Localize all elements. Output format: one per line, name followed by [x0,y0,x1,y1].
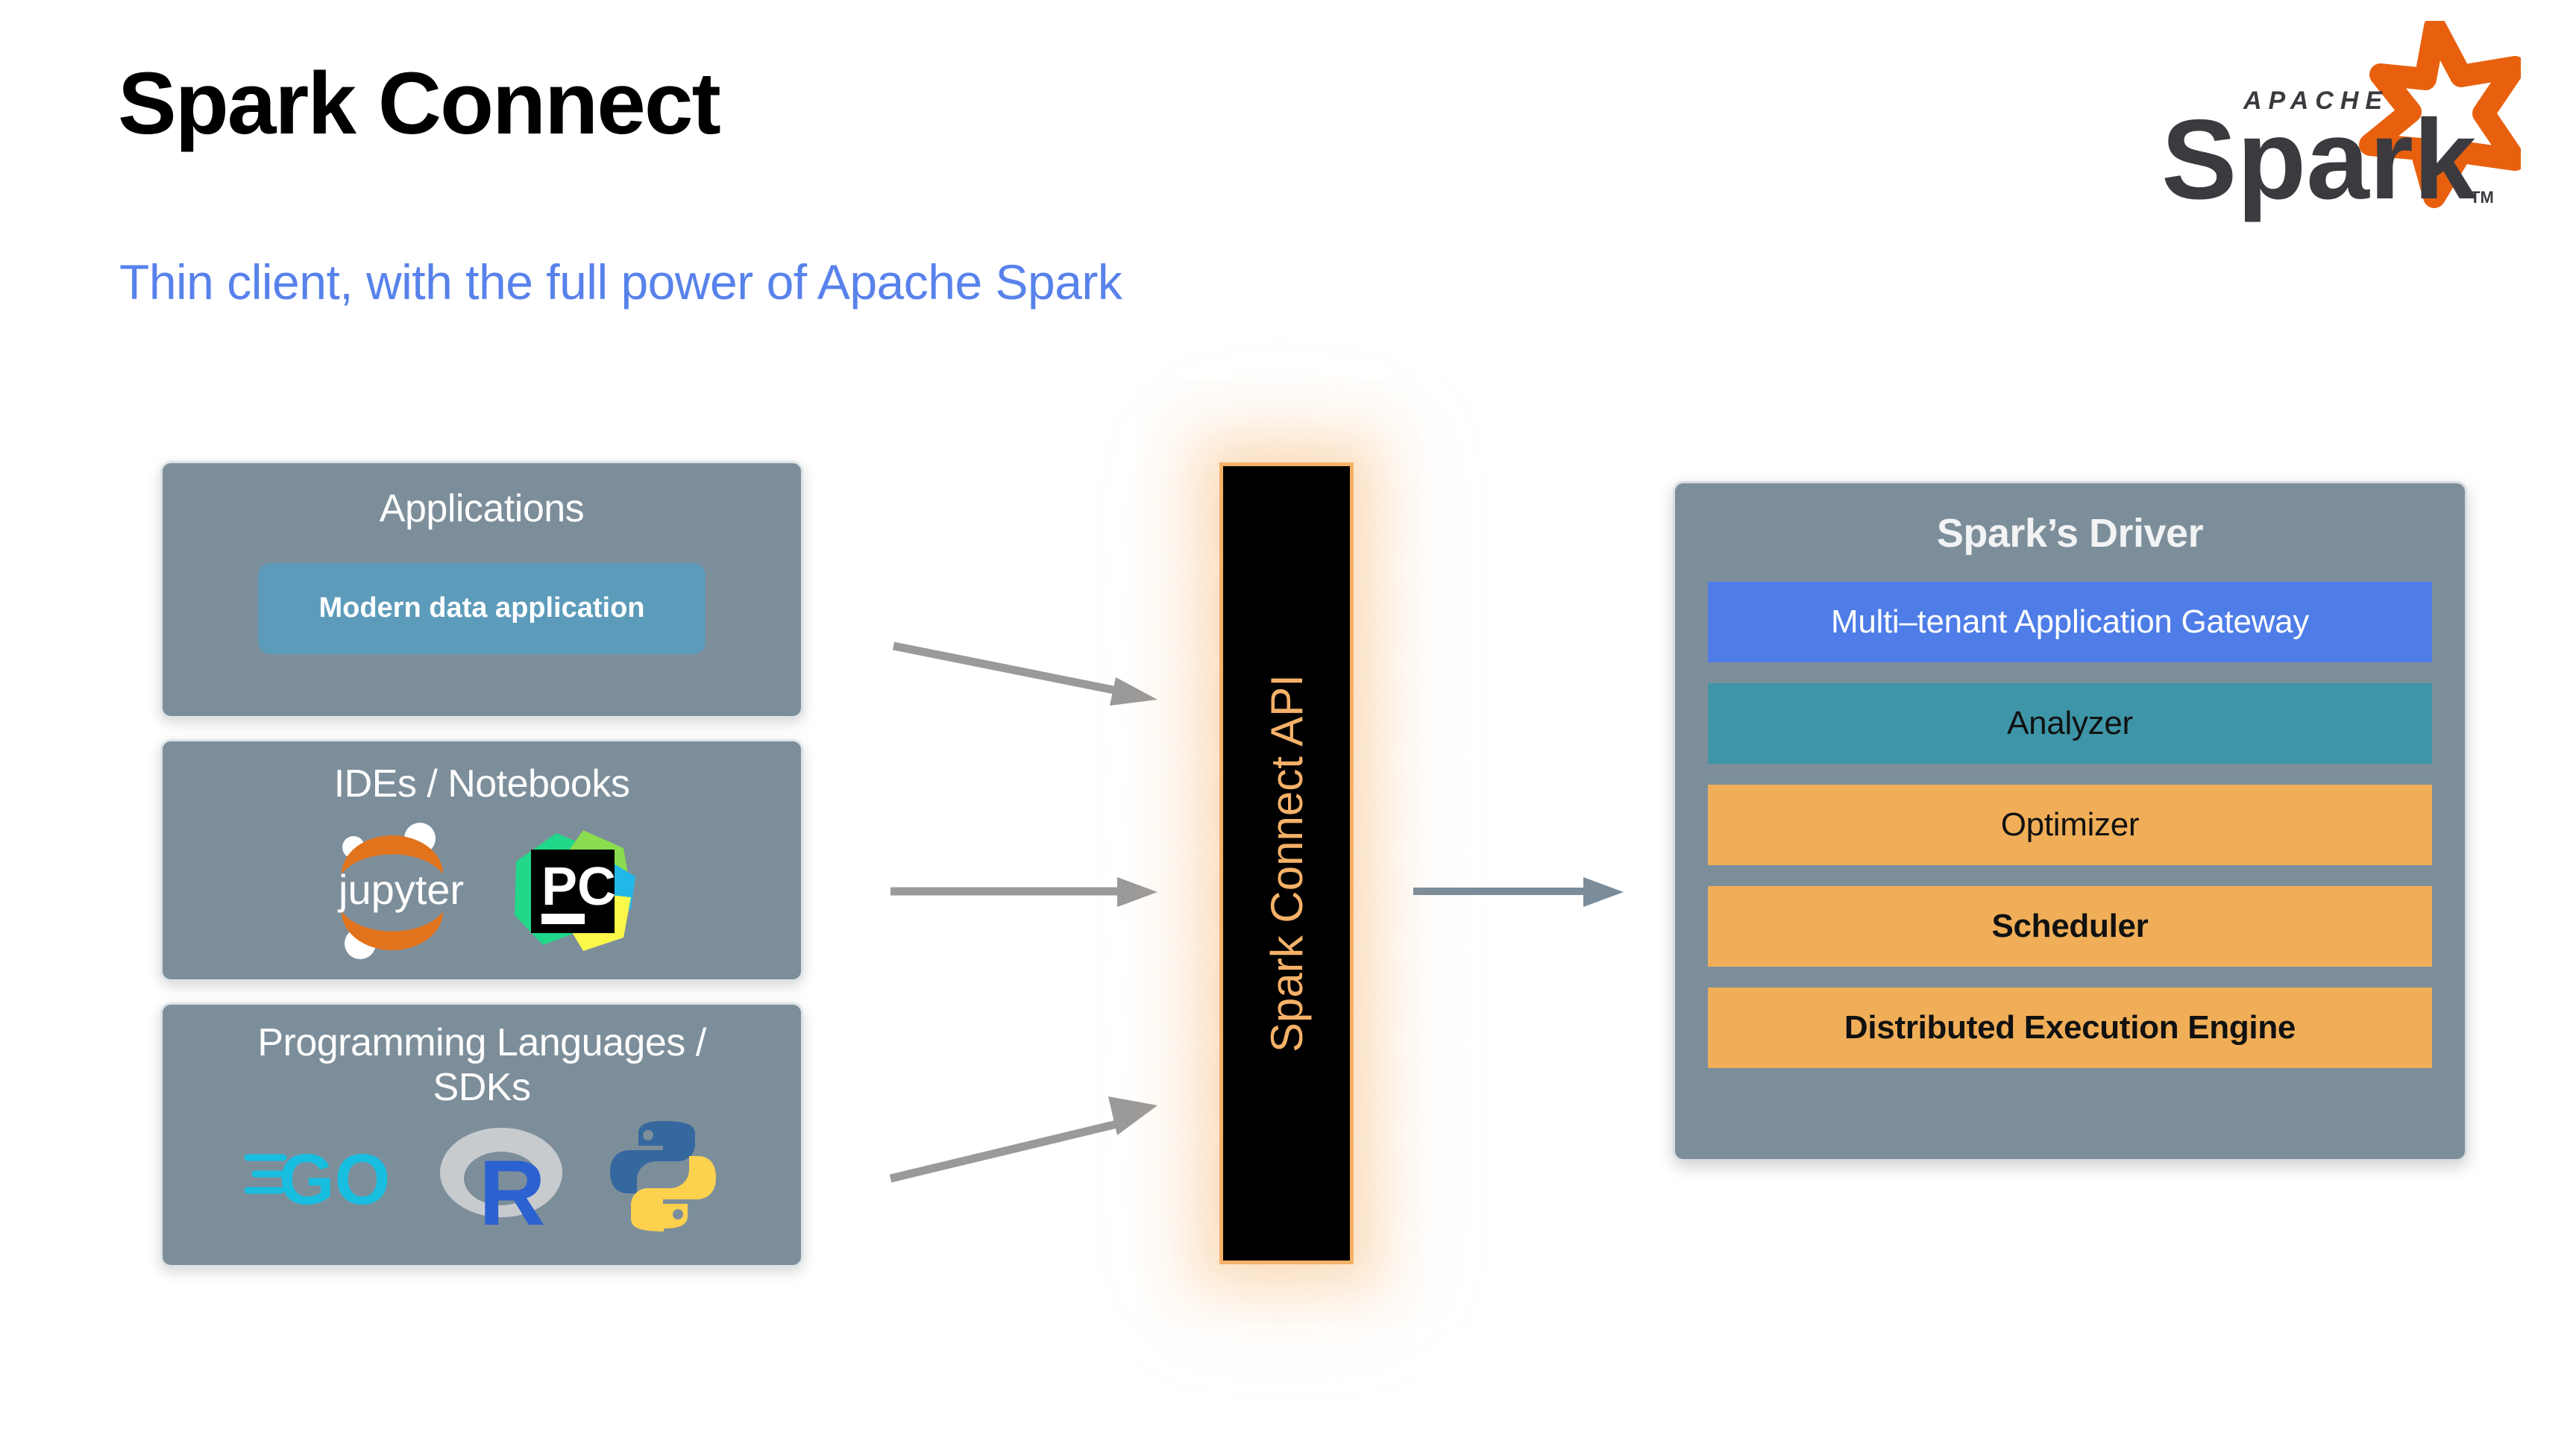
go-logo: GO [245,1126,401,1227]
pycharm-logo: PC [512,826,638,960]
jupyter-logo: jupyter [325,820,474,966]
language-logo-row: GO R [163,1118,801,1235]
apache-spark-logo: APACHE Spark TM [2133,21,2521,222]
driver-row-optimizer[interactable]: Optimizer [1708,785,2432,865]
card-ides-notebooks[interactable]: IDEs / Notebooks jupyter [160,739,803,982]
card-languages-title-line2: SDKs [433,1066,531,1109]
card-applications[interactable]: Applications Modern data application [160,461,803,718]
spark-driver-title: Spark’s Driver [1708,510,2432,556]
arrow-ides-to-api [880,858,1193,947]
spark-connect-api-bar[interactable]: Spark Connect API [1219,462,1354,1264]
r-wordmark: R [479,1142,546,1231]
slide-root: Spark Connect Thin client, with the full… [0,0,2576,1447]
python-logo [607,1118,719,1235]
modern-data-application-chip[interactable]: Modern data application [258,563,706,654]
spark-connect-api-label: Spark Connect API [1261,674,1313,1052]
arrow-api-to-driver [1406,858,1659,947]
card-languages-title: Programming Languages / SDKs [163,1021,801,1111]
card-ides-title: IDEs / Notebooks [163,762,801,807]
driver-row-analyzer[interactable]: Analyzer [1708,683,2432,764]
pycharm-wordmark: PC [541,857,616,917]
page-subtitle: Thin client, with the full power of Apac… [119,254,1122,310]
card-languages-title-line1: Programming Languages / [257,1021,706,1064]
card-applications-title: Applications [163,487,801,532]
driver-row-gateway[interactable]: Multi–tenant Application Gateway [1708,582,2432,662]
client-stack-column: Applications Modern data application IDE… [160,461,803,1267]
trademark-mark: TM [2470,188,2494,207]
spark-wordmark: Spark [2161,96,2477,222]
card-programming-languages[interactable]: Programming Languages / SDKs GO [160,1002,803,1267]
jupyter-wordmark: jupyter [337,866,464,913]
r-logo: R [437,1119,571,1234]
driver-row-distributed-execution-engine[interactable]: Distributed Execution Engine [1708,988,2432,1068]
ide-logo-row: jupyter PC [163,820,801,966]
page-title: Spark Connect [118,58,720,151]
arrow-languages-to-api [880,1059,1193,1201]
driver-row-scheduler[interactable]: Scheduler [1708,886,2432,967]
arrow-applications-to-api [880,612,1193,746]
spark-driver-card[interactable]: Spark’s Driver Multi–tenant Application … [1673,481,2467,1161]
go-wordmark: GO [279,1140,390,1220]
